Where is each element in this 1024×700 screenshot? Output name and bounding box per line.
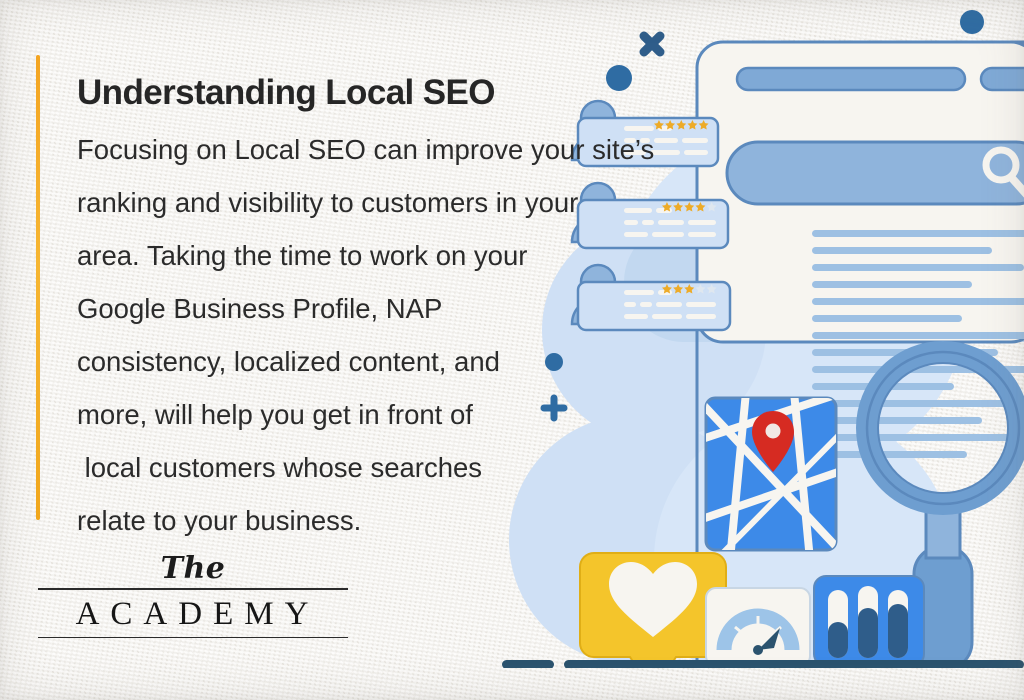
body-line: Focusing on Local SEO can improve your s… [77,123,767,176]
body-line: Google Business Profile, NAP [77,282,767,335]
body-line: ranking and visibility to customers in y… [77,176,767,229]
logo-script-word: The [38,552,348,586]
decorative-dot-icon [606,65,632,91]
page-title: Understanding Local SEO [77,73,495,113]
logo-divider-bottom [38,637,348,639]
body-line: local customers whose searches [77,441,767,494]
baseline-bar [502,660,1024,669]
body-copy: Focusing on Local SEO can improve your s… [77,123,767,547]
close-x-icon [644,36,660,52]
body-line: more, will help you get in front of [77,388,767,441]
body-line: area. Taking the time to work on your [77,229,767,282]
body-line: relate to your business. [77,494,767,547]
logo-name: ACADEMY [38,590,348,637]
accent-rule [36,55,40,520]
body-line: consistency, localized content, and [77,335,767,388]
speedometer-gauge [706,588,810,666]
heart-speech-bubble [580,553,726,693]
academy-logo: The ACADEMY [38,552,348,638]
bar-chart [814,576,924,666]
